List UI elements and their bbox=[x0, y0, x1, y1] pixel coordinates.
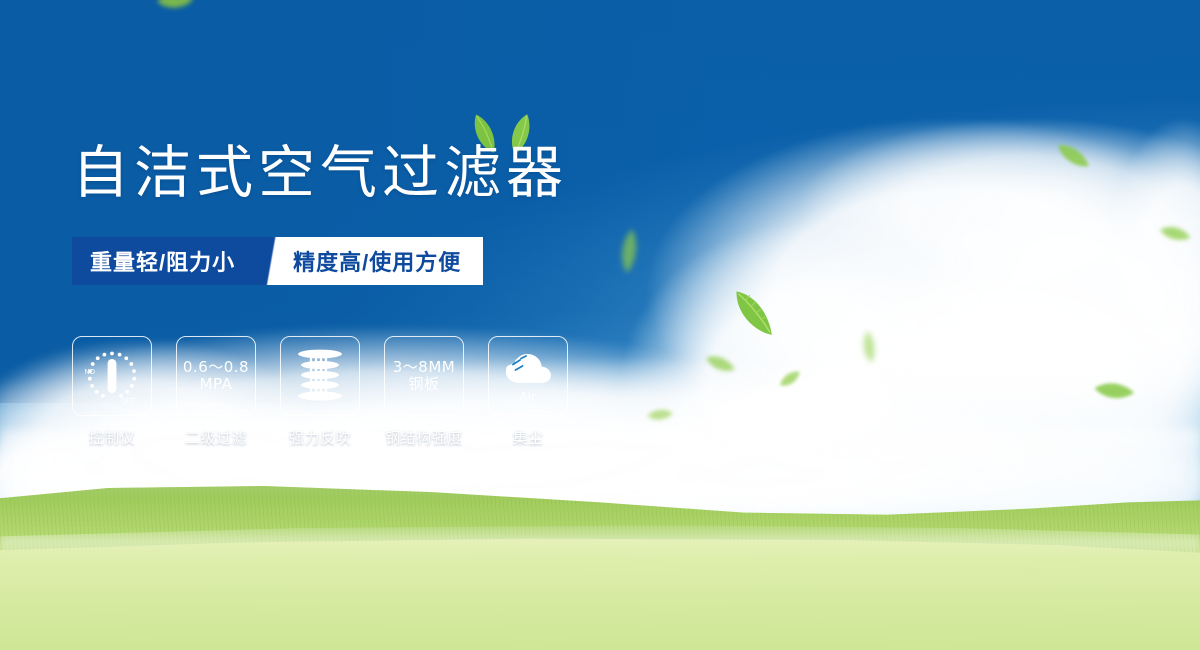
pressure-text-icon: 0.6～0.8 MPA bbox=[183, 359, 249, 394]
dust-cloud-caption: Air bbox=[520, 390, 537, 403]
pressure-range: 0.6～0.8 bbox=[183, 359, 249, 376]
gauge-dial-icon: NO OFF bbox=[81, 345, 143, 407]
subtitle-left-segment: 重量轻/阻力小 bbox=[72, 237, 255, 285]
feature-label: 钢结构强度 bbox=[385, 427, 463, 448]
feature-label: 集尘 bbox=[512, 427, 543, 448]
steel-plate-text-icon: 3～8MM 钢板 bbox=[393, 359, 455, 394]
filter-cartridge-icon bbox=[292, 346, 348, 406]
feature-icon-box: 3～8MM 钢板 bbox=[384, 336, 464, 416]
dust-cloud-icon bbox=[500, 349, 556, 389]
feature-list: NO OFF 控制仪 0.6～0.8 MPA 二级过滤 bbox=[72, 336, 568, 448]
banner-content: 自洁式空气过滤器 重量轻/阻力小 精度高/使用方便 bbox=[0, 0, 1200, 650]
steel-material: 钢板 bbox=[393, 376, 455, 393]
page-title: 自洁式空气过滤器 bbox=[72, 145, 568, 202]
feature-label: 控制仪 bbox=[89, 427, 136, 448]
pressure-unit: MPA bbox=[183, 376, 249, 393]
feature-icon-box bbox=[280, 336, 360, 416]
feature-label: 强力反吹 bbox=[289, 427, 351, 448]
gauge-label-off: OFF bbox=[121, 398, 135, 405]
feature-icon-box: 0.6～0.8 MPA bbox=[176, 336, 256, 416]
feature-icon-box: Air bbox=[488, 336, 568, 416]
gauge-label-on: NO bbox=[85, 369, 96, 376]
feature-item-blowback: 强力反吹 bbox=[280, 336, 360, 448]
feature-label: 二级过滤 bbox=[185, 427, 247, 448]
subtitle-bar: 重量轻/阻力小 精度高/使用方便 bbox=[72, 237, 483, 285]
subtitle-slant-divider bbox=[255, 237, 289, 285]
feature-item-dust: Air 集尘 bbox=[488, 336, 568, 448]
feature-item-steel: 3～8MM 钢板 钢结构强度 bbox=[384, 336, 464, 448]
product-banner: 自洁式空气过滤器 重量轻/阻力小 精度高/使用方便 bbox=[0, 0, 1200, 650]
feature-icon-box: NO OFF bbox=[72, 336, 152, 416]
subtitle-right-segment: 精度高/使用方便 bbox=[289, 237, 483, 285]
feature-item-controller: NO OFF 控制仪 bbox=[72, 336, 152, 448]
feature-item-pressure: 0.6～0.8 MPA 二级过滤 bbox=[176, 336, 256, 448]
steel-thickness: 3～8MM bbox=[393, 359, 455, 376]
